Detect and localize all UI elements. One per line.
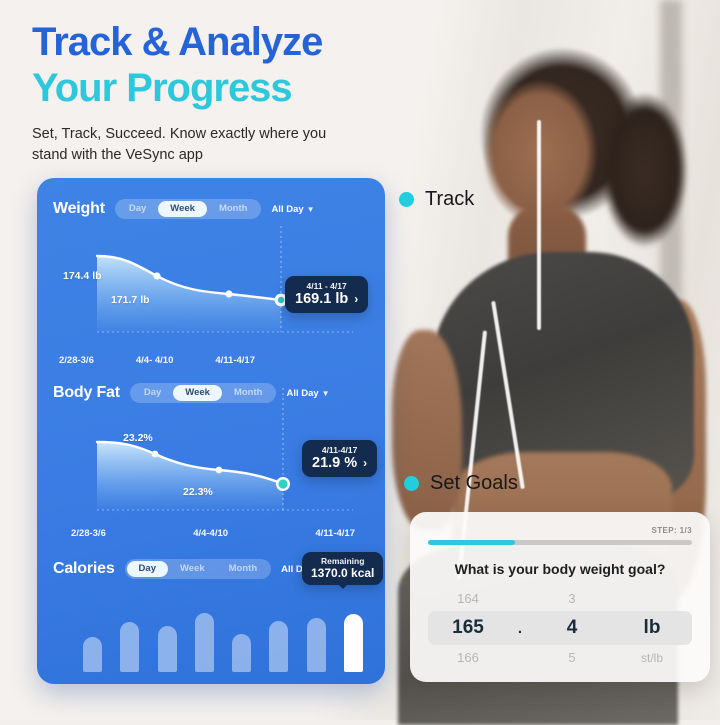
- bodyfat-tooltip-value-row: 21.9 % ›: [312, 455, 367, 471]
- weight-tooltip-value: 169.1 lb: [295, 291, 348, 307]
- weight-point-1[interactable]: [153, 272, 160, 279]
- weight-x-label-3: 4/11-4/17: [215, 355, 255, 366]
- bodyfat-x-label-1: 2/28-3/6: [71, 528, 106, 539]
- picker-decimal-below: 5: [532, 650, 612, 665]
- picker-decimal-selected: 4: [532, 617, 612, 639]
- calories-bar[interactable]: [120, 622, 139, 672]
- page-title: Track & Analyze Your Progress: [32, 20, 432, 111]
- tab-weight-day[interactable]: Day: [117, 201, 158, 217]
- calories-bar[interactable]: [83, 637, 102, 672]
- marker-set-goals-label: Set Goals: [430, 472, 518, 495]
- tab-bodyfat-day[interactable]: Day: [132, 385, 173, 401]
- bodyfat-tooltip[interactable]: 4/11-4/17 21.9 % ›: [302, 440, 377, 477]
- picker-row-selected[interactable]: 165 . 4 lb: [428, 611, 692, 645]
- headline-line-1: Track & Analyze: [32, 20, 322, 64]
- marker-set-goals: Set Goals: [404, 472, 518, 495]
- chevron-right-icon[interactable]: ›: [354, 292, 358, 306]
- picker-whole-below: 166: [428, 650, 508, 665]
- calories-tooltip-value: 1370.0 kcal: [311, 566, 374, 580]
- bodyfat-point-label-2: 22.3%: [183, 486, 213, 498]
- calories-bar[interactable]: [195, 613, 214, 672]
- headline-subtitle: Set, Track, Succeed. Know exactly where …: [32, 124, 332, 165]
- bodyfat-range-tabs[interactable]: Day Week Month: [130, 383, 277, 403]
- weight-point-2[interactable]: [225, 290, 232, 297]
- earphone-cord-upper: [537, 120, 541, 330]
- bodyfat-point-2[interactable]: [216, 467, 223, 474]
- weight-range-tabs[interactable]: Day Week Month: [115, 199, 262, 219]
- weight-x-label-2: 4/4- 4/10: [136, 355, 174, 366]
- calories-bar[interactable]: [269, 621, 288, 672]
- tab-bodyfat-week[interactable]: Week: [173, 385, 222, 401]
- chevron-down-icon: ▼: [322, 389, 330, 398]
- progress-bar: [428, 540, 692, 545]
- weight-point-label-2: 171.7 lb: [111, 294, 150, 306]
- tab-weight-month[interactable]: Month: [207, 201, 260, 217]
- bodyfat-tooltip-value: 21.9 %: [312, 455, 357, 471]
- app-preview-card: Weight Day Week Month All Day ▼: [37, 178, 385, 684]
- bodyfat-x-axis: 2/28-3/6 4/4-4/10 4/11-4/17: [53, 528, 373, 539]
- panel-body-fat: Body Fat Day Week Month All Day ▼: [37, 380, 385, 545]
- bodyfat-panel-title: Body Fat: [53, 384, 120, 402]
- calories-bar[interactable]: [307, 618, 326, 672]
- goal-question: What is your body weight goal?: [428, 561, 692, 577]
- tab-calories-day[interactable]: Day: [127, 561, 168, 577]
- picker-row-above[interactable]: 164 3: [428, 586, 692, 611]
- weight-allday-dropdown[interactable]: All Day ▼: [271, 204, 314, 215]
- panel-calories: Calories Day Week Month All Day ▼ Remain…: [37, 556, 385, 684]
- bodyfat-panel-header: Body Fat Day Week Month All Day ▼: [37, 380, 385, 406]
- weight-tooltip-value-row: 169.1 lb ›: [295, 291, 358, 307]
- chevron-down-icon: ▼: [307, 205, 315, 214]
- bodyfat-point-3-inner: [278, 479, 287, 488]
- weight-allday-label: All Day: [271, 204, 303, 215]
- picker-row-below[interactable]: 166 5 st/lb: [428, 645, 692, 670]
- bullet-dot-icon: [399, 192, 414, 207]
- marker-track-label: Track: [425, 188, 474, 211]
- bodyfat-x-label-3: 4/11-4/17: [315, 528, 355, 539]
- calories-tooltip[interactable]: Remaining 1370.0 kcal: [302, 552, 383, 585]
- bodyfat-allday-label: All Day: [286, 388, 318, 399]
- goal-setup-card: STEP: 1/3 What is your body weight goal?…: [410, 512, 710, 682]
- picker-unit-selected: lb: [612, 617, 692, 639]
- marker-track: Track: [399, 188, 474, 211]
- tab-calories-month[interactable]: Month: [217, 561, 270, 577]
- calories-bar-chart: [83, 592, 363, 672]
- picker-separator: .: [508, 620, 532, 637]
- bullet-dot-icon: [404, 476, 419, 491]
- bodyfat-point-1[interactable]: [152, 451, 159, 458]
- bodyfat-point-label-1: 23.2%: [123, 432, 153, 444]
- weight-panel-header: Weight Day Week Month All Day ▼: [37, 196, 385, 222]
- weight-point-label-1: 174.4 lb: [63, 270, 102, 282]
- weight-tooltip-date: 4/11 - 4/17: [295, 281, 358, 291]
- calories-bar[interactable]: [232, 634, 251, 672]
- panel-weight: Weight Day Week Month All Day ▼: [37, 196, 385, 376]
- calories-panel-title: Calories: [53, 560, 115, 578]
- headline-line-2: Your Progress: [32, 66, 292, 110]
- tab-bodyfat-month[interactable]: Month: [222, 385, 275, 401]
- calories-bar-highlight[interactable]: [344, 614, 363, 672]
- bodyfat-allday-dropdown[interactable]: All Day ▼: [286, 388, 329, 399]
- headline-block: Track & Analyze Your Progress Set, Track…: [32, 20, 432, 165]
- weight-x-label-1: 2/28-3/6: [59, 355, 94, 366]
- picker-whole-above: 164: [428, 591, 508, 606]
- chevron-right-icon[interactable]: ›: [363, 456, 367, 470]
- weight-goal-picker[interactable]: 164 3 165 . 4 lb 166 5 st/lb: [428, 586, 692, 670]
- calories-tooltip-label: Remaining: [311, 556, 374, 566]
- model-left-arm: [392, 330, 462, 530]
- bodyfat-tooltip-date: 4/11-4/17: [312, 445, 367, 455]
- progress-bar-fill: [428, 540, 515, 545]
- step-indicator: STEP: 1/3: [428, 526, 692, 535]
- picker-unit-below: st/lb: [612, 651, 692, 665]
- tab-calories-week[interactable]: Week: [168, 561, 217, 577]
- picker-decimal-above: 3: [532, 591, 612, 606]
- calories-range-tabs[interactable]: Day Week Month: [125, 559, 272, 579]
- bodyfat-x-label-2: 4/4-4/10: [193, 528, 228, 539]
- weight-panel-title: Weight: [53, 200, 105, 218]
- calories-bar[interactable]: [158, 626, 177, 672]
- tab-weight-week[interactable]: Week: [158, 201, 207, 217]
- weight-x-axis: 2/28-3/6 4/4- 4/10 4/11-4/17: [53, 355, 373, 366]
- picker-whole-selected: 165: [428, 617, 508, 639]
- weight-tooltip[interactable]: 4/11 - 4/17 169.1 lb ›: [285, 276, 368, 313]
